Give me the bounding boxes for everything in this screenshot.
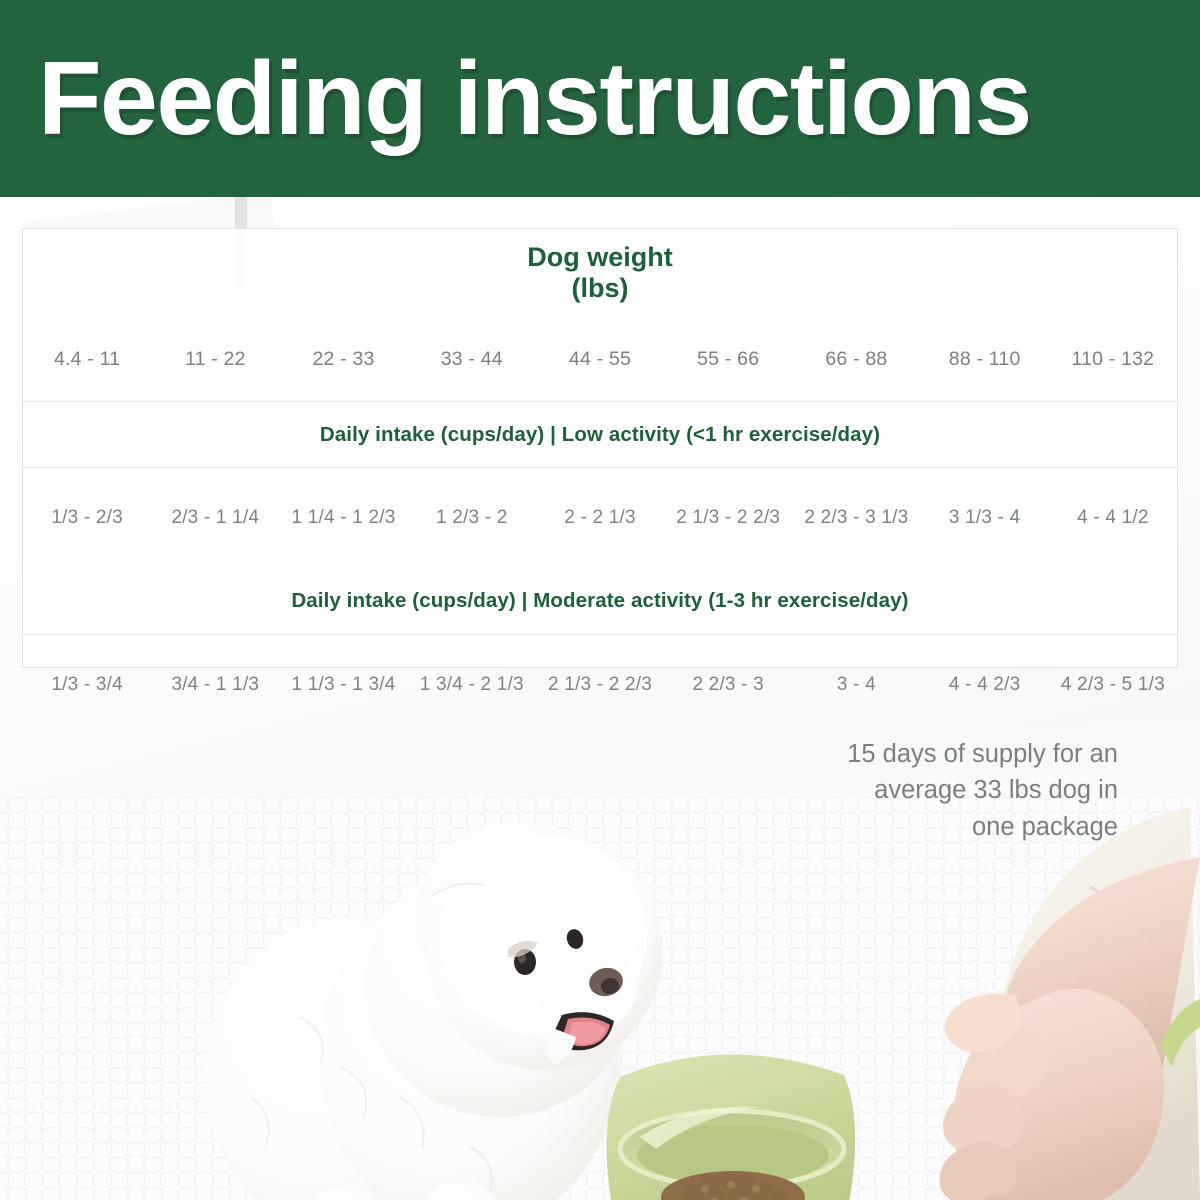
table-row-moderate-activity: 1/3 - 3/4 3/4 - 1 1/3 1 1/3 - 1 3/4 1 3/… (23, 634, 1177, 735)
weight-column: 110 - 132 (1049, 348, 1177, 371)
intake-value: 1 1/4 - 1 2/3 (279, 507, 407, 529)
intake-value: 1 3/4 - 2 1/3 (408, 674, 536, 696)
intake-value: 3 1/3 - 4 (921, 507, 1049, 529)
dog-weight-unit: (lbs) (572, 273, 629, 304)
section-label: Daily intake (cups/day) | Moderate activ… (23, 589, 1177, 613)
weight-column: 22 - 33 (279, 348, 407, 371)
weight-column: 88 - 110 (921, 348, 1049, 371)
intake-value: 2/3 - 1 1/4 (151, 507, 279, 529)
dog-weight-label: Dog weight (527, 242, 672, 273)
supply-note-line-3: one package (766, 809, 1118, 845)
table-header-title: Dog weight (lbs) (23, 229, 1177, 317)
intake-value: 1 1/3 - 1 3/4 (279, 674, 407, 696)
intake-value: 2 2/3 - 3 (664, 674, 792, 696)
feeding-instructions-infographic: Feeding instructions Dog weight (lbs) 4.… (0, 0, 1200, 1200)
supply-note: 15 days of supply for an average 33 lbs … (766, 736, 1118, 845)
weight-column: 11 - 22 (151, 348, 279, 371)
intake-value: 3 - 4 (792, 674, 920, 696)
intake-value: 2 1/3 - 2 2/3 (536, 674, 664, 696)
intake-value: 3/4 - 1 1/3 (151, 674, 279, 696)
weight-column: 66 - 88 (792, 348, 920, 371)
weight-column: 4.4 - 11 (23, 348, 151, 371)
intake-value: 1 2/3 - 2 (408, 507, 536, 529)
feeding-chart-table: Dog weight (lbs) 4.4 - 11 11 - 22 22 - 3… (22, 228, 1178, 668)
header-banner: Feeding instructions (0, 0, 1200, 197)
intake-value: 2 - 2 1/3 (536, 507, 664, 529)
weight-columns-row: 4.4 - 11 11 - 22 22 - 33 33 - 44 44 - 55… (23, 317, 1177, 401)
supply-note-line-2: average 33 lbs dog in (766, 772, 1118, 808)
weight-column: 44 - 55 (536, 348, 664, 371)
weight-column: 55 - 66 (664, 348, 792, 371)
supply-note-line-1: 15 days of supply for an (766, 736, 1118, 772)
section-label: Daily intake (cups/day) | Low activity (… (23, 423, 1177, 447)
intake-value: 4 - 4 2/3 (921, 674, 1049, 696)
intake-value: 2 1/3 - 2 2/3 (664, 507, 792, 529)
table-row-low-activity: 1/3 - 2/3 2/3 - 1 1/4 1 1/4 - 1 2/3 1 2/… (23, 467, 1177, 568)
intake-value: 4 2/3 - 5 1/3 (1049, 674, 1177, 696)
intake-value: 1/3 - 3/4 (23, 674, 151, 696)
weight-column: 33 - 44 (408, 348, 536, 371)
page-title: Feeding instructions (0, 47, 1031, 151)
section-header-moderate-activity: Daily intake (cups/day) | Moderate activ… (23, 568, 1177, 634)
intake-value: 4 - 4 1/2 (1049, 507, 1177, 529)
intake-value: 2 2/3 - 3 1/3 (792, 507, 920, 529)
intake-value: 1/3 - 2/3 (23, 507, 151, 529)
section-header-low-activity: Daily intake (cups/day) | Low activity (… (23, 401, 1177, 467)
